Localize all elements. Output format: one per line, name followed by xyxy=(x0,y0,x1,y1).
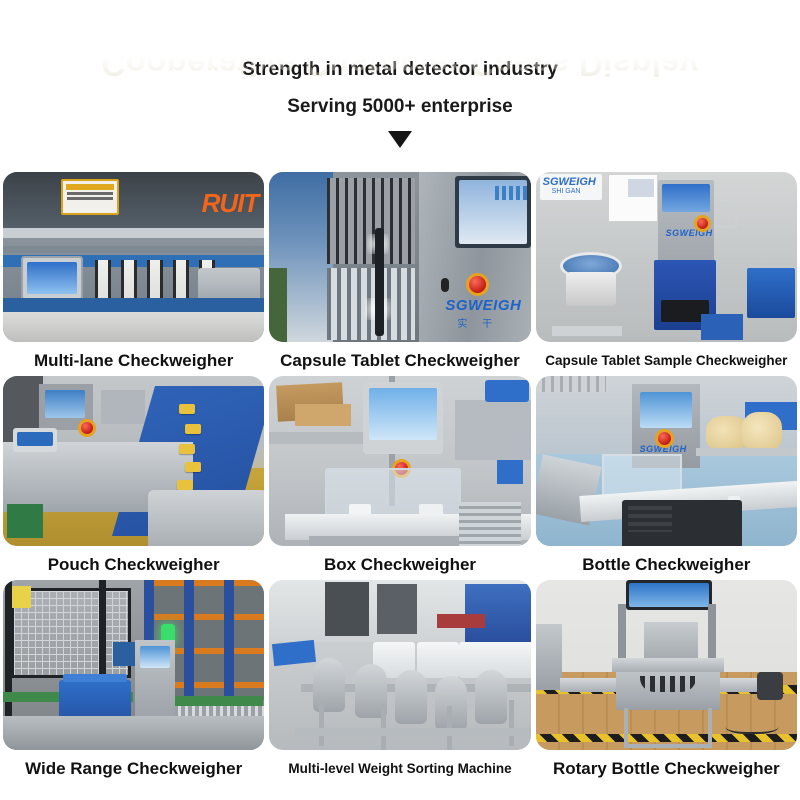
machine-rail-secondary xyxy=(3,246,264,253)
work-table xyxy=(552,326,622,336)
drive-drum xyxy=(757,672,783,700)
brand-logo-sgweigh: SGWEIGH xyxy=(640,444,687,454)
blue-display-case xyxy=(747,268,795,318)
warning-label-icon xyxy=(9,586,31,608)
hmi-touchscreen xyxy=(363,382,443,454)
hmi-touchscreen xyxy=(455,176,530,248)
emergency-stop-icon xyxy=(697,218,708,229)
blue-bin xyxy=(701,314,743,340)
sorting-chute xyxy=(395,670,427,724)
hmi-screen xyxy=(369,388,437,440)
warning-label-icon xyxy=(61,179,119,215)
case-card-capsule-tablet-checkweigher[interactable]: SGWEIGH 实 干 Capsule Tablet Checkweigher xyxy=(269,172,530,372)
gallery-row: Wide Range Checkweigher xyxy=(0,580,800,780)
page-root: Cooperative Customer Cases Display Coope… xyxy=(0,0,800,800)
case-card-multi-lane-checkweigher[interactable]: RUIT Multi-lane Checkweigher xyxy=(3,172,264,372)
case-photo[interactable] xyxy=(269,580,530,750)
background-shelf xyxy=(536,376,606,392)
vent-panel xyxy=(459,502,521,546)
subtitle-line-1: Strength in metal detector industry xyxy=(0,55,800,85)
sorting-chute xyxy=(475,670,507,724)
banner-subtitle-text: SHI GAN xyxy=(552,188,581,195)
rotary-star-wheel xyxy=(640,676,696,692)
stainless-tray xyxy=(148,490,264,546)
case-caption: Multi-lane Checkweigher xyxy=(3,342,264,372)
case-card-rotary-bottle-checkweigher[interactable]: Rotary Bottle Checkweigher xyxy=(536,580,797,780)
background-machine xyxy=(377,584,417,634)
machine-base-rail xyxy=(295,728,530,736)
power-cable xyxy=(725,716,779,734)
background-machine xyxy=(325,582,369,636)
brand-logo-chinese: 实 干 xyxy=(457,315,498,330)
hmi-screen xyxy=(640,392,692,428)
sorting-unit xyxy=(417,642,459,678)
case-card-pouch-checkweigher[interactable]: Pouch Checkweigher xyxy=(3,376,264,576)
case-photo[interactable] xyxy=(3,580,264,750)
page-header: Cooperative Customer Cases Display Coope… xyxy=(0,0,800,148)
green-container xyxy=(7,504,43,538)
work-bench xyxy=(269,432,365,444)
case-photo[interactable]: SGWEIGH 实 干 xyxy=(269,172,530,342)
case-card-wide-range-checkweigher[interactable]: Wide Range Checkweigher xyxy=(3,580,264,780)
roller-conveyor xyxy=(163,696,263,706)
black-crate xyxy=(622,500,742,546)
subtitle-line-2: Serving 5000+ enterprise xyxy=(0,92,800,122)
hmi-screen xyxy=(662,184,710,212)
gallery-row: Pouch Checkweigher xyxy=(0,376,800,576)
case-caption: Capsule Tablet Sample Checkweigher xyxy=(536,342,797,372)
blue-cart xyxy=(272,640,316,666)
product-pouch xyxy=(179,404,195,414)
machine-base xyxy=(3,312,264,342)
chair xyxy=(712,202,738,228)
infeed-conveyor xyxy=(560,678,624,692)
title-wrap: Cooperative Customer Cases Display Coope… xyxy=(101,4,698,50)
machine-leg xyxy=(381,704,386,750)
cardboard-box xyxy=(295,404,351,426)
cases-gallery: RUIT Multi-lane Checkweigher xyxy=(0,172,800,784)
case-photo[interactable] xyxy=(536,580,797,750)
machine-rail xyxy=(3,228,264,238)
sorting-chute xyxy=(313,658,345,712)
case-caption: Rotary Bottle Checkweigher xyxy=(536,750,797,780)
checkweigher-machine xyxy=(135,640,175,724)
hmi-touchscreen xyxy=(21,256,83,300)
triangle-down-icon xyxy=(388,131,412,148)
emergency-stop-icon xyxy=(658,432,671,445)
banner-brand-text: SGWEIGH xyxy=(543,176,596,188)
hmi-chart-bars xyxy=(495,186,527,200)
work-table xyxy=(696,448,797,456)
blue-fixture xyxy=(485,380,529,402)
selector-knob-icon xyxy=(441,278,449,292)
hmi-screen xyxy=(629,583,709,607)
blue-shelving xyxy=(465,584,531,642)
hmi-screen xyxy=(17,432,53,446)
product-pouch xyxy=(185,462,201,472)
machine-hopper xyxy=(644,622,698,662)
feeder-base xyxy=(566,272,616,306)
machine-rod xyxy=(375,228,384,336)
product-pouch xyxy=(179,444,195,454)
product-pouch xyxy=(185,424,201,434)
background-panel xyxy=(536,624,562,690)
machine-base-blue xyxy=(3,298,264,312)
background-equipment xyxy=(455,400,531,460)
case-card-bottle-checkweigher[interactable]: SGWEIGH Bottle Checkweigher xyxy=(536,376,797,576)
machine-leg xyxy=(509,700,514,746)
case-card-capsule-tablet-sample-checkweigher[interactable]: SGWEIGH SHI GAN SGWEIGH xyxy=(536,172,797,372)
page-title: Cooperative Customer Cases Display xyxy=(101,4,698,50)
gallery-row: RUIT Multi-lane Checkweigher xyxy=(0,172,800,372)
hmi-screen xyxy=(27,262,77,294)
case-photo[interactable]: RUIT xyxy=(3,172,264,342)
hmi-screen xyxy=(459,180,527,244)
case-caption: Box Checkweigher xyxy=(269,546,530,576)
case-photo[interactable]: SGWEIGH xyxy=(536,376,797,546)
product-bag xyxy=(742,412,782,450)
hmi-touchscreen xyxy=(626,580,712,610)
hmi-touchscreen xyxy=(13,428,57,452)
booth-banner: SGWEIGH SHI GAN xyxy=(540,174,602,200)
hmi-screen xyxy=(140,646,170,668)
blue-bin xyxy=(497,460,523,484)
case-photo[interactable]: SGWEIGH SHI GAN SGWEIGH xyxy=(536,172,797,342)
case-photo[interactable] xyxy=(3,376,264,546)
booth-poster xyxy=(608,174,658,222)
brand-logo-ruit: RUIT xyxy=(202,188,259,219)
machine-deck xyxy=(612,658,724,672)
case-card-multi-level-weight-sorting-machine[interactable]: Multi-level Weight Sorting Machine xyxy=(269,580,530,780)
plant-foliage xyxy=(269,268,287,342)
machine-frame xyxy=(624,708,712,748)
case-caption: Capsule Tablet Checkweigher xyxy=(269,342,530,372)
case-caption: Multi-level Weight Sorting Machine xyxy=(269,750,530,780)
red-table xyxy=(437,614,485,628)
secondary-machine xyxy=(101,390,145,424)
case-caption: Pouch Checkweigher xyxy=(3,546,264,576)
emergency-stop-icon xyxy=(81,422,93,434)
brand-logo-sgweigh: SGWEIGH xyxy=(445,297,521,314)
case-card-box-checkweigher[interactable]: Box Checkweigher xyxy=(269,376,530,576)
case-caption: Wide Range Checkweigher xyxy=(3,750,264,780)
machine-leg xyxy=(319,700,324,746)
hmi-screen xyxy=(45,390,85,418)
conveyor-base xyxy=(3,716,264,750)
case-caption: Bottle Checkweigher xyxy=(536,546,797,576)
product-pouch xyxy=(177,480,193,490)
brand-logo-sgweigh: SGWEIGH xyxy=(666,228,713,238)
case-photo[interactable] xyxy=(269,376,530,546)
